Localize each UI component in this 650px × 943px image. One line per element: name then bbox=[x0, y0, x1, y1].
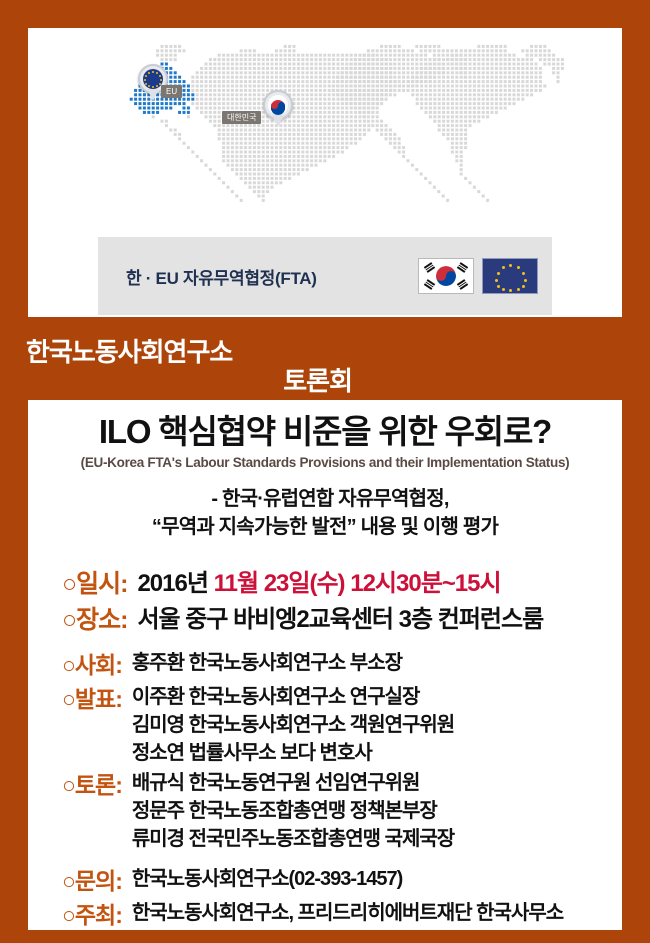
korea-flag bbox=[418, 258, 474, 294]
korea-flag-icon bbox=[268, 95, 288, 115]
korean-subtitle: - 한국·유럽연합 자유무역협정, “무역과 지속가능한 발전” 내용 및 이행… bbox=[28, 485, 622, 541]
venue-label: ○장소: bbox=[62, 603, 127, 637]
korean-subtitle-line2: “무역과 지속가능한 발전” 내용 및 이행 평가 bbox=[28, 513, 622, 541]
event-kind-label: 토론회 bbox=[283, 365, 352, 397]
hosts-label: ○주최: bbox=[62, 899, 122, 931]
list-item: 이주환 한국노동사회연구소 연구실장 bbox=[132, 683, 622, 711]
eu-pin-label: EU bbox=[161, 85, 182, 98]
datetime-value: 2016년 11월 23일(수) 12시30분~15시 bbox=[137, 567, 622, 601]
hero-image-panel: EU 대한민국 한 · EU 자유무역협정(FTA) bbox=[28, 28, 622, 317]
list-item: 류미경 전국민주노동조합총연맹 국제국장 bbox=[132, 825, 622, 853]
detail-row-panelists: ○토론: 배규식 한국노동연구원 선임연구위원 정문주 한국노동조합총연맹 정책… bbox=[62, 769, 622, 853]
contact-value: 한국노동사회연구소(02-393-1457) bbox=[132, 865, 622, 893]
organization-band: 한국노동사회연구소 토론회 bbox=[10, 337, 362, 400]
korean-subtitle-line1: - 한국·유럽연합 자유무역협정, bbox=[28, 485, 622, 513]
panelists-values: 배규식 한국노동연구원 선임연구위원 정문주 한국노동조합총연맹 정책본부장 류… bbox=[132, 769, 622, 853]
detail-row-moderator: ○사회: 홍주환 한국노동사회연구소 부소장 bbox=[62, 649, 622, 681]
organization-name: 한국노동사회연구소 bbox=[26, 336, 232, 368]
details-list: ○일시: 2016년 11월 23일(수) 12시30분~15시 ○장소: 서울… bbox=[28, 567, 622, 931]
presenters-label: ○발표: bbox=[62, 683, 122, 715]
taegeuk-symbol bbox=[436, 266, 456, 286]
hosts-values: 한국노동사회연구소, 프리드리히에버트재단 한국사무소 bbox=[132, 899, 622, 927]
eu-flag bbox=[482, 258, 538, 294]
eu-pin-tip bbox=[147, 89, 159, 101]
page-title: ILO 핵심협약 비준을 위한 우회로? bbox=[28, 412, 622, 452]
world-map: EU 대한민국 bbox=[28, 28, 622, 238]
korea-pin-tip bbox=[272, 115, 284, 127]
list-item: 김미영 한국노동사회연구소 객원연구위원 bbox=[132, 711, 622, 739]
datetime-label: ○일시: bbox=[62, 567, 127, 601]
datetime-year: 2016년 bbox=[137, 570, 207, 597]
world-map-dots bbox=[28, 28, 622, 238]
list-item: 정소연 법률사무소 보다 변호사 bbox=[132, 739, 622, 767]
contact-label: ○문의: bbox=[62, 865, 122, 897]
english-subtitle: (EU-Korea FTA's Labour Standards Provisi… bbox=[28, 454, 622, 471]
korea-pin-label: 대한민국 bbox=[222, 111, 261, 124]
contact-values: 한국노동사회연구소(02-393-1457) bbox=[132, 865, 622, 893]
venue-value: 서울 중구 바비엥2교육센터 3층 컨퍼런스룸 bbox=[137, 603, 622, 637]
fta-banner-text: 한 · EU 자유무역협정(FTA) bbox=[126, 264, 418, 289]
detail-row-contact: ○문의: 한국노동사회연구소(02-393-1457) bbox=[62, 865, 622, 897]
eu-map-pin: EU bbox=[138, 64, 168, 102]
moderator-values: 홍주환 한국노동사회연구소 부소장 bbox=[132, 649, 622, 677]
korea-map-pin: 대한민국 bbox=[263, 90, 293, 128]
fta-banner: 한 · EU 자유무역협정(FTA) bbox=[98, 237, 552, 315]
poster-root: EU 대한민국 한 · EU 자유무역협정(FTA) bbox=[0, 0, 650, 943]
panelists-label: ○토론: bbox=[62, 769, 122, 801]
list-item: 정문주 한국노동조합총연맹 정책본부장 bbox=[132, 797, 622, 825]
content-panel: ILO 핵심협약 비준을 위한 우회로? (EU-Korea FTA's Lab… bbox=[28, 400, 622, 930]
eu-flag-icon bbox=[143, 69, 163, 89]
datetime-highlight: 11월 23일(수) 12시30분~15시 bbox=[214, 570, 501, 597]
list-item: 홍주환 한국노동사회연구소 부소장 bbox=[132, 649, 622, 677]
datetime-values: 2016년 11월 23일(수) 12시30분~15시 bbox=[137, 567, 622, 601]
presenters-values: 이주환 한국노동사회연구소 연구실장 김미영 한국노동사회연구소 객원연구위원 … bbox=[132, 683, 622, 767]
hosts-value: 한국노동사회연구소, 프리드리히에버트재단 한국사무소 bbox=[132, 899, 622, 927]
detail-row-datetime: ○일시: 2016년 11월 23일(수) 12시30분~15시 bbox=[62, 567, 622, 601]
detail-row-presenters: ○발표: 이주환 한국노동사회연구소 연구실장 김미영 한국노동사회연구소 객원… bbox=[62, 683, 622, 767]
venue-values: 서울 중구 바비엥2교육센터 3층 컨퍼런스룸 bbox=[137, 603, 622, 637]
moderator-label: ○사회: bbox=[62, 649, 122, 681]
detail-row-venue: ○장소: 서울 중구 바비엥2교육센터 3층 컨퍼런스룸 bbox=[62, 603, 622, 637]
list-item: 배규식 한국노동연구원 선임연구위원 bbox=[132, 769, 622, 797]
detail-row-hosts: ○주최: 한국노동사회연구소, 프리드리히에버트재단 한국사무소 bbox=[62, 899, 622, 931]
